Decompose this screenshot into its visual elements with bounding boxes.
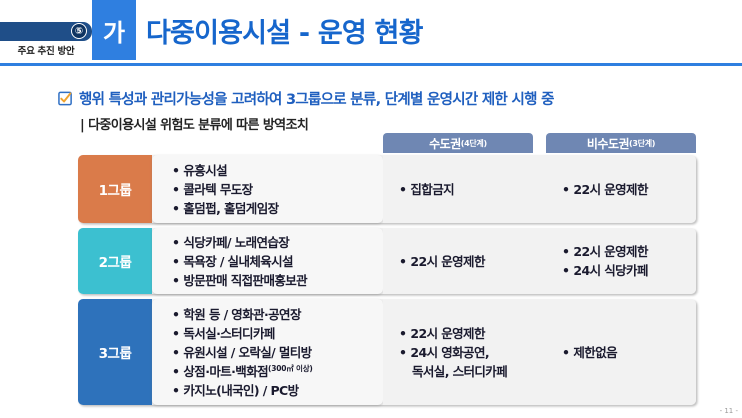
bullet-item: •제한없음 (562, 343, 696, 362)
column-header-nonmetro-stage: (3단계) (629, 138, 655, 149)
bullet-item: •학원 등 / 영화관·공연장 (172, 305, 383, 324)
lead-statement: 행위 특성과 관리가능성을 고려하여 3그룹으로 분류, 단계별 운영시간 제한… (58, 88, 554, 109)
bullet-item: •22시 운영제한 (399, 324, 546, 343)
bullet-dot-icon: • (172, 182, 179, 197)
column-header-metro-label: 수도권 (429, 135, 461, 152)
measure-nonmetro: •22시 운영제한 (546, 155, 696, 223)
bullet-item: •24시 식당카페 (562, 261, 696, 280)
table-subcaption: | 다중이용시설 위험도 분류에 따른 방역조치 (80, 114, 308, 133)
bullet-dot-icon: • (172, 273, 179, 288)
bullet-item: •22시 운영제한 (562, 242, 696, 261)
bullet-item: •콜라텍 무도장 (172, 180, 383, 199)
page-number: - 11 - (720, 407, 738, 415)
bullet-dot-icon: • (172, 201, 179, 216)
bullet-dot-icon: • (399, 345, 406, 360)
facility-list: •식당카페/ 노래연습장•목욕장 / 실내체육시설•방문판매 직접판매홍보관 (152, 228, 383, 294)
column-header-metro-stage: (4단계) (461, 138, 487, 149)
table-row: 1그룹 •유흥시설•콜라텍 무도장•홀덤펍, 홀덤게임장 •집합금지 •22시 … (78, 155, 696, 223)
bullet-item: •목욕장 / 실내체육시설 (172, 252, 383, 271)
facility-list: •학원 등 / 영화관·공연장•독서실·스터디카페•유원시설 / 오락실/ 멀티… (152, 299, 383, 405)
group-label: 2그룹 (78, 228, 152, 294)
bullet-dot-icon: • (399, 326, 406, 341)
bullet-item: •카지노(내국인) / PC방 (172, 381, 383, 400)
measure-metro: •22시 운영제한 (383, 228, 546, 294)
bullet-dot-icon: • (399, 182, 406, 197)
bullet-dot-icon: • (172, 307, 179, 322)
checkbox-checked-icon (58, 91, 73, 106)
section-letter: 가 (92, 0, 136, 60)
column-header-nonmetro: 비수도권(3단계) (546, 133, 696, 153)
bullet-item: •유흥시설 (172, 161, 383, 180)
bullet-item-note: (300㎡ 이상) (268, 363, 313, 372)
table-row: 2그룹 •식당카페/ 노래연습장•목욕장 / 실내체육시설•방문판매 직접판매홍… (78, 228, 696, 294)
bullet-dot-icon: • (172, 383, 179, 398)
measure-nonmetro: •제한없음 (546, 299, 696, 405)
bullet-item: 독서실, 스터디카페 (399, 362, 546, 381)
bullet-item: •유원시설 / 오락실/ 멀티방 (172, 343, 383, 362)
measure-metro: •22시 운영제한•24시 영화공연,독서실, 스터디카페 (383, 299, 546, 405)
page-title: 다중이용시설 - 운영 현황 (146, 0, 423, 60)
bullet-dot-icon: • (562, 182, 569, 197)
bullet-item: •22시 운영제한 (399, 252, 546, 271)
bullet-dot-icon: • (562, 244, 569, 259)
table-row: 3그룹 •학원 등 / 영화관·공연장•독서실·스터디카페•유원시설 / 오락실… (78, 299, 696, 405)
bullet-item: •방문판매 직접판매홍보관 (172, 271, 383, 290)
bullet-dot-icon: • (399, 254, 406, 269)
bullet-dot-icon: • (172, 345, 179, 360)
facility-list: •유흥시설•콜라텍 무도장•홀덤펍, 홀덤게임장 (152, 155, 383, 223)
section-badge: ⑤ 주요 추진 방안 (0, 22, 92, 60)
bullet-dot-icon: • (172, 326, 179, 341)
lead-text: 행위 특성과 관리가능성을 고려하여 3그룹으로 분류, 단계별 운영시간 제한… (79, 88, 554, 109)
bullet-dot-icon: • (172, 163, 179, 178)
bullet-dot-icon: • (562, 263, 569, 278)
slide-header: ⑤ 주요 추진 방안 가 다중이용시설 - 운영 현황 (0, 0, 742, 66)
measure-nonmetro: •22시 운영제한•24시 식당카페 (546, 228, 696, 294)
group-label: 1그룹 (78, 155, 152, 223)
bullet-item: •식당카페/ 노래연습장 (172, 233, 383, 252)
bullet-item: •24시 영화공연, (399, 343, 546, 362)
header-divider (0, 63, 742, 66)
badge-bar: ⑤ (0, 22, 92, 41)
bullet-dot-icon: • (562, 345, 569, 360)
column-header-nonmetro-label: 비수도권 (587, 135, 629, 152)
column-header-metro: 수도권(4단계) (383, 133, 533, 153)
bullet-item: •독서실·스터디카페 (172, 324, 383, 343)
badge-number: ⑤ (71, 23, 87, 39)
bullet-item: •22시 운영제한 (562, 180, 696, 199)
bullet-item: •홀덤펍, 홀덤게임장 (172, 199, 383, 218)
group-label: 3그룹 (78, 299, 152, 405)
bullet-item: •집합금지 (399, 180, 546, 199)
measure-metro: •집합금지 (383, 155, 546, 223)
bullet-dot-icon: • (172, 235, 179, 250)
bullet-dot-icon: • (172, 364, 179, 379)
badge-caption: 주요 추진 방안 (0, 43, 92, 57)
bullet-dot-icon: • (172, 254, 179, 269)
bullet-item: •상점·마트·백화점(300㎡ 이상) (172, 362, 383, 381)
